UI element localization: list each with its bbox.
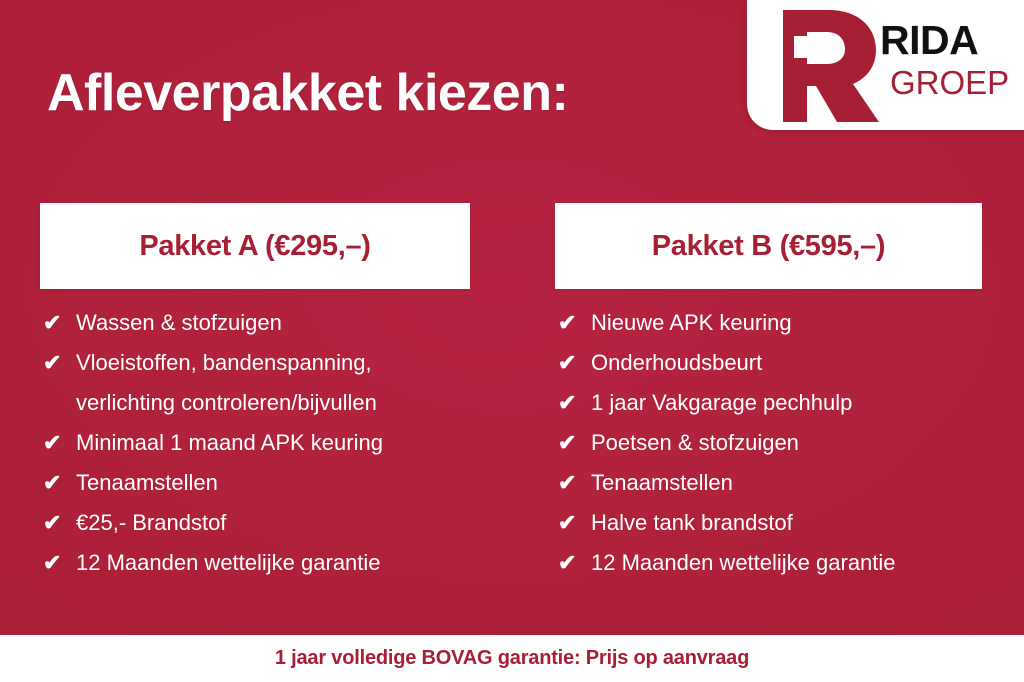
package-a-title: Pakket A (€295,–)	[139, 230, 370, 263]
list-item: ✔ Vloeistoffen, bandenspanning, verlicht…	[40, 343, 470, 423]
feature-text: Tenaamstellen	[76, 463, 468, 503]
check-icon: ✔	[555, 383, 591, 423]
check-icon: ✔	[40, 343, 76, 383]
list-item: ✔ 1 jaar Vakgarage pechhulp	[555, 383, 982, 423]
feature-text: Wassen & stofzuigen	[76, 303, 468, 343]
feature-text: Onderhoudsbeurt	[591, 343, 981, 383]
feature-text: Vloeistoffen, bandenspanning, verlichtin…	[76, 343, 468, 423]
brand-subtitle: GROEP	[890, 65, 1016, 101]
check-icon: ✔	[40, 423, 76, 463]
list-item: ✔ Minimaal 1 maand APK keuring	[40, 423, 470, 463]
list-item: ✔ Poetsen & stofzuigen	[555, 423, 982, 463]
check-icon: ✔	[555, 463, 591, 503]
check-icon: ✔	[555, 503, 591, 543]
poster-canvas: Afleverpakket kiezen: RIDA GROEP Pakket …	[0, 0, 1024, 682]
feature-text: €25,- Brandstof	[76, 503, 468, 543]
feature-text: 12 Maanden wettelijke garantie	[76, 543, 468, 583]
check-icon: ✔	[555, 343, 591, 383]
package-card-b: Pakket B (€595,–) ✔ Nieuwe APK keuring ✔…	[555, 203, 982, 583]
feature-text: Nieuwe APK keuring	[591, 303, 981, 343]
feature-text: Halve tank brandstof	[591, 503, 981, 543]
feature-text: Minimaal 1 maand APK keuring	[76, 423, 468, 463]
check-icon: ✔	[40, 463, 76, 503]
list-item: ✔ Tenaamstellen	[555, 463, 982, 503]
feature-text: Tenaamstellen	[591, 463, 981, 503]
rida-r-mark-icon	[761, 6, 881, 124]
list-item: ✔ Wassen & stofzuigen	[40, 303, 470, 343]
brand-name: RIDA	[880, 20, 1016, 61]
check-icon: ✔	[555, 303, 591, 343]
brand-wordmark: RIDA GROEP	[880, 20, 1016, 101]
feature-text: Poetsen & stofzuigen	[591, 423, 981, 463]
brand-logo-panel: RIDA GROEP	[747, 0, 1024, 130]
list-item: ✔ Halve tank brandstof	[555, 503, 982, 543]
check-icon: ✔	[555, 543, 591, 583]
list-item: ✔ 12 Maanden wettelijke garantie	[555, 543, 982, 583]
package-b-header: Pakket B (€595,–)	[555, 203, 982, 289]
list-item: ✔ Nieuwe APK keuring	[555, 303, 982, 343]
feature-text: 1 jaar Vakgarage pechhulp	[591, 383, 981, 423]
list-item: ✔ Tenaamstellen	[40, 463, 470, 503]
check-icon: ✔	[40, 503, 76, 543]
feature-text: 12 Maanden wettelijke garantie	[591, 543, 981, 583]
package-card-a: Pakket A (€295,–) ✔ Wassen & stofzuigen …	[40, 203, 470, 583]
list-item: ✔ 12 Maanden wettelijke garantie	[40, 543, 470, 583]
list-item: ✔ €25,- Brandstof	[40, 503, 470, 543]
footer-text: 1 jaar volledige BOVAG garantie: Prijs o…	[275, 647, 749, 670]
footer-banner: 1 jaar volledige BOVAG garantie: Prijs o…	[0, 635, 1024, 682]
package-a-header: Pakket A (€295,–)	[40, 203, 470, 289]
package-a-feature-list: ✔ Wassen & stofzuigen ✔ Vloeistoffen, ba…	[40, 303, 470, 583]
package-b-feature-list: ✔ Nieuwe APK keuring ✔ Onderhoudsbeurt ✔…	[555, 303, 982, 583]
check-icon: ✔	[40, 543, 76, 583]
list-item: ✔ Onderhoudsbeurt	[555, 343, 982, 383]
package-b-title: Pakket B (€595,–)	[652, 230, 886, 263]
check-icon: ✔	[40, 303, 76, 343]
page-title: Afleverpakket kiezen:	[47, 62, 568, 124]
check-icon: ✔	[555, 423, 591, 463]
